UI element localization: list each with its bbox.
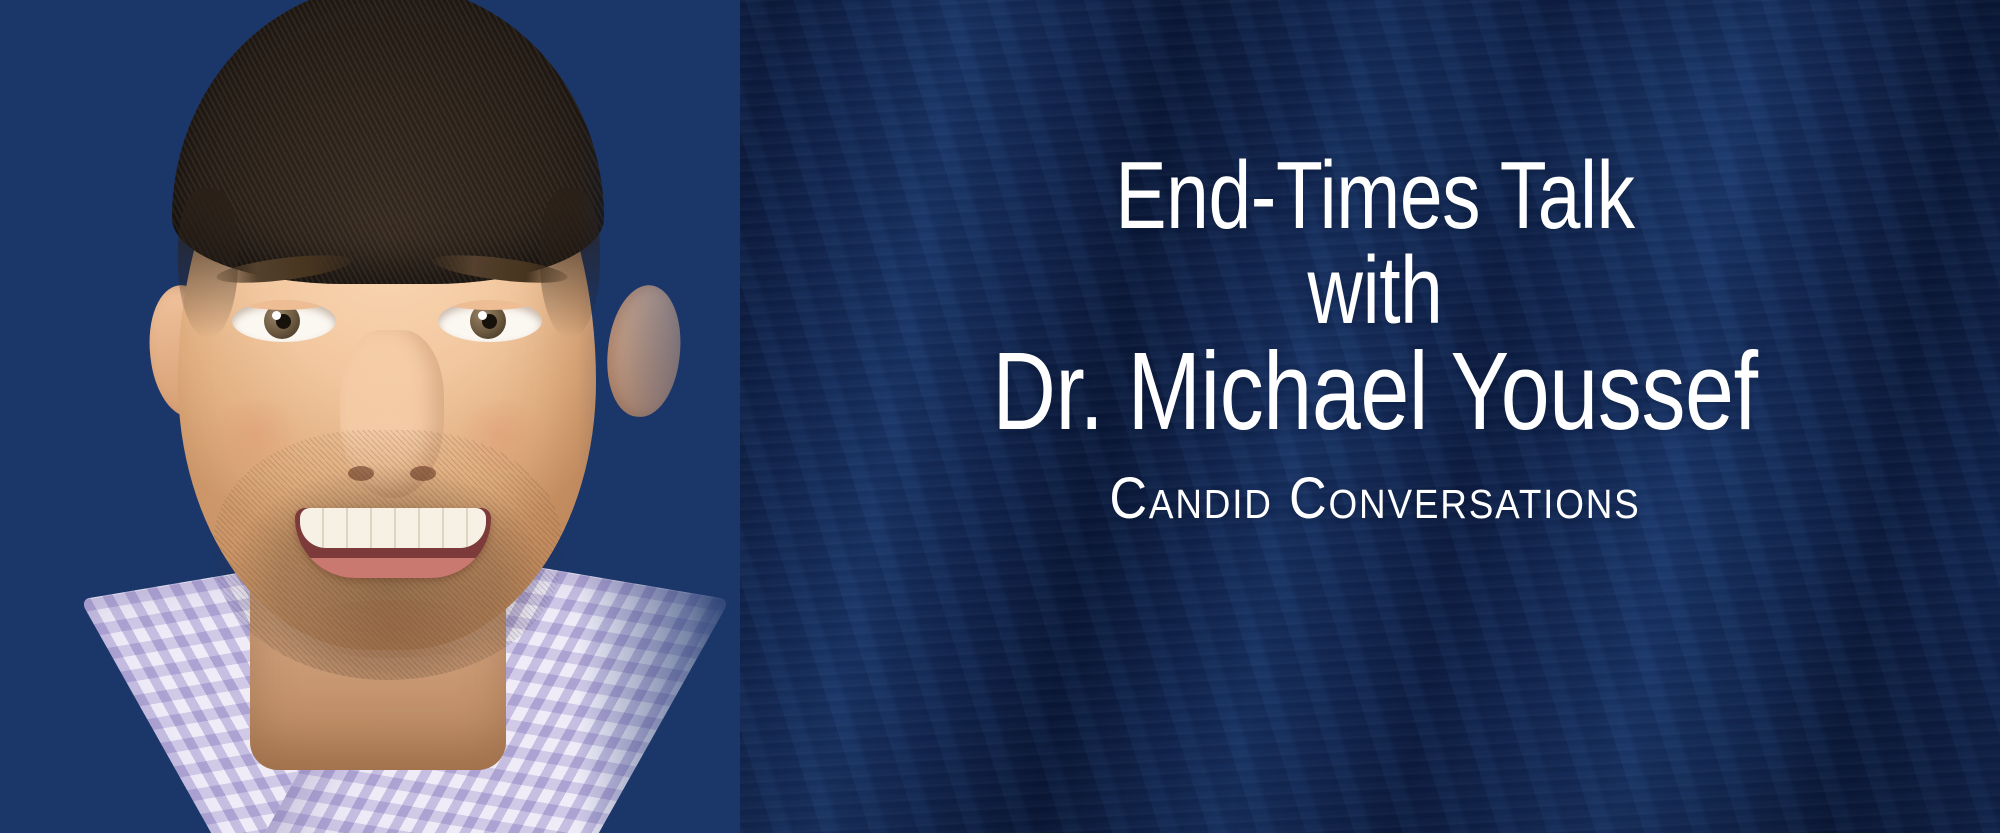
nostril-right <box>410 466 436 481</box>
teeth <box>300 508 486 548</box>
title-line-3: Dr. Michael Youssef <box>883 340 1867 445</box>
eye-glint-left <box>272 311 281 320</box>
title-line-2: with <box>883 245 1867 336</box>
show-banner: End-Times Talk with Dr. Michael Youssef … <box>0 0 2000 833</box>
sideburn-left <box>178 188 238 338</box>
nostril-left <box>348 466 374 481</box>
mouth-smile <box>295 508 491 578</box>
cheek-left <box>208 400 304 470</box>
eyelid-left <box>232 300 336 310</box>
eye-right <box>438 300 542 342</box>
lower-lip <box>304 558 482 578</box>
subtitle: Candid Conversations <box>822 465 1929 532</box>
title-line-1: End-Times Talk <box>883 150 1867 241</box>
sideburn-right <box>540 188 600 338</box>
host-portrait-photo <box>0 0 740 833</box>
nose <box>340 330 444 498</box>
eye-glint-right <box>478 311 487 320</box>
eye-left <box>232 300 336 342</box>
chin-shadow <box>286 600 496 658</box>
cheek-right <box>452 400 548 470</box>
title-block: End-Times Talk with Dr. Michael Youssef … <box>760 150 1990 532</box>
eyelid-right <box>438 300 542 310</box>
